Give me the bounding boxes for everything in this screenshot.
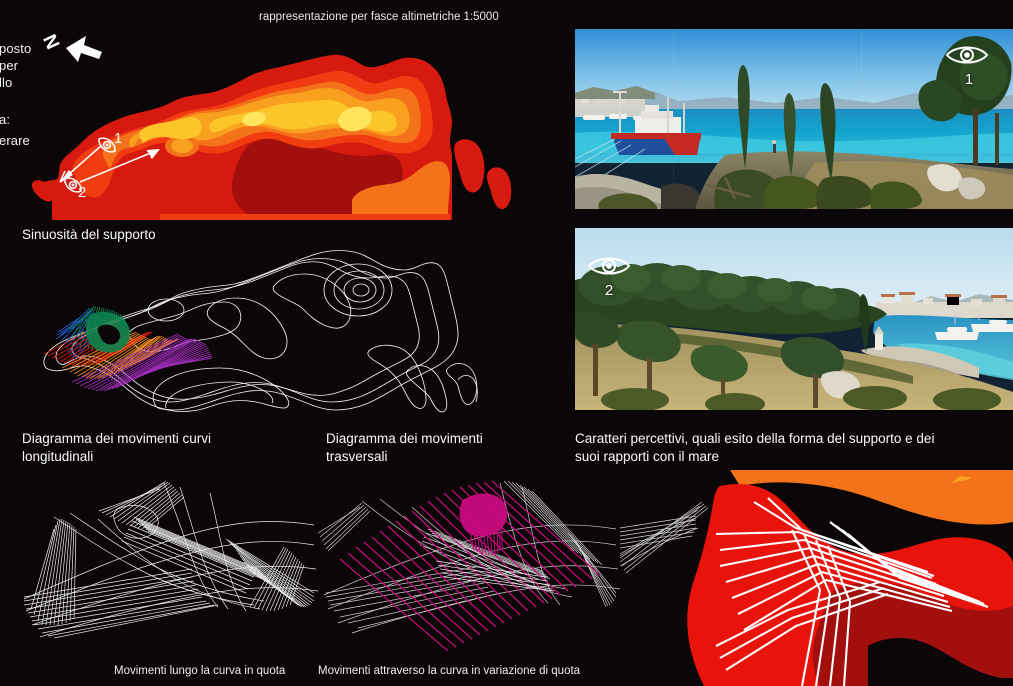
transversal-movement-svg <box>316 473 626 653</box>
analysis-board: rappresentazione per fasce altimetriche … <box>0 0 1013 686</box>
view-direction-arrows <box>40 120 200 210</box>
photo-2-viewpoint-label: 2 <box>598 282 620 299</box>
transversal-heading-line-2: trasversali <box>326 448 388 465</box>
transversal-caption: Movimenti attraverso la curva in variazi… <box>318 664 580 678</box>
perceptive-heading-line-1: Caratteri percettivi, quali esito della … <box>575 430 934 447</box>
color-movement-cluster <box>36 292 236 402</box>
transversal-heading-line-1: Diagramma dei movimenti <box>326 430 483 447</box>
longitudinal-caption: Movimenti lungo la curva in quota <box>114 664 285 678</box>
photo-panorama-pineta-baia[interactable]: 2 <box>575 228 1013 410</box>
photo-2-graphic <box>575 228 1013 410</box>
longitudinal-heading-line-2: longitudinali <box>22 448 93 465</box>
page-title: rappresentazione per fasce altimetriche … <box>259 11 499 23</box>
perceptive-detail-map <box>620 470 1013 686</box>
photo-panorama-porto-nave[interactable]: 1 <box>575 29 1013 209</box>
photo-1-viewpoint-label: 1 <box>958 71 980 88</box>
transversal-movement-diagram <box>316 473 626 653</box>
longitudinal-movement-svg <box>14 473 324 653</box>
longitudinal-movement-diagram <box>14 473 324 653</box>
perceptive-heading-line-2: suoi rapporti con il mare <box>575 448 719 465</box>
photo-1-graphic <box>575 29 1013 209</box>
longitudinal-heading-line-1: Diagramma dei movimenti curvi <box>22 430 211 447</box>
color-movement-svg <box>36 292 236 402</box>
perceptive-detail-svg <box>620 470 1013 686</box>
